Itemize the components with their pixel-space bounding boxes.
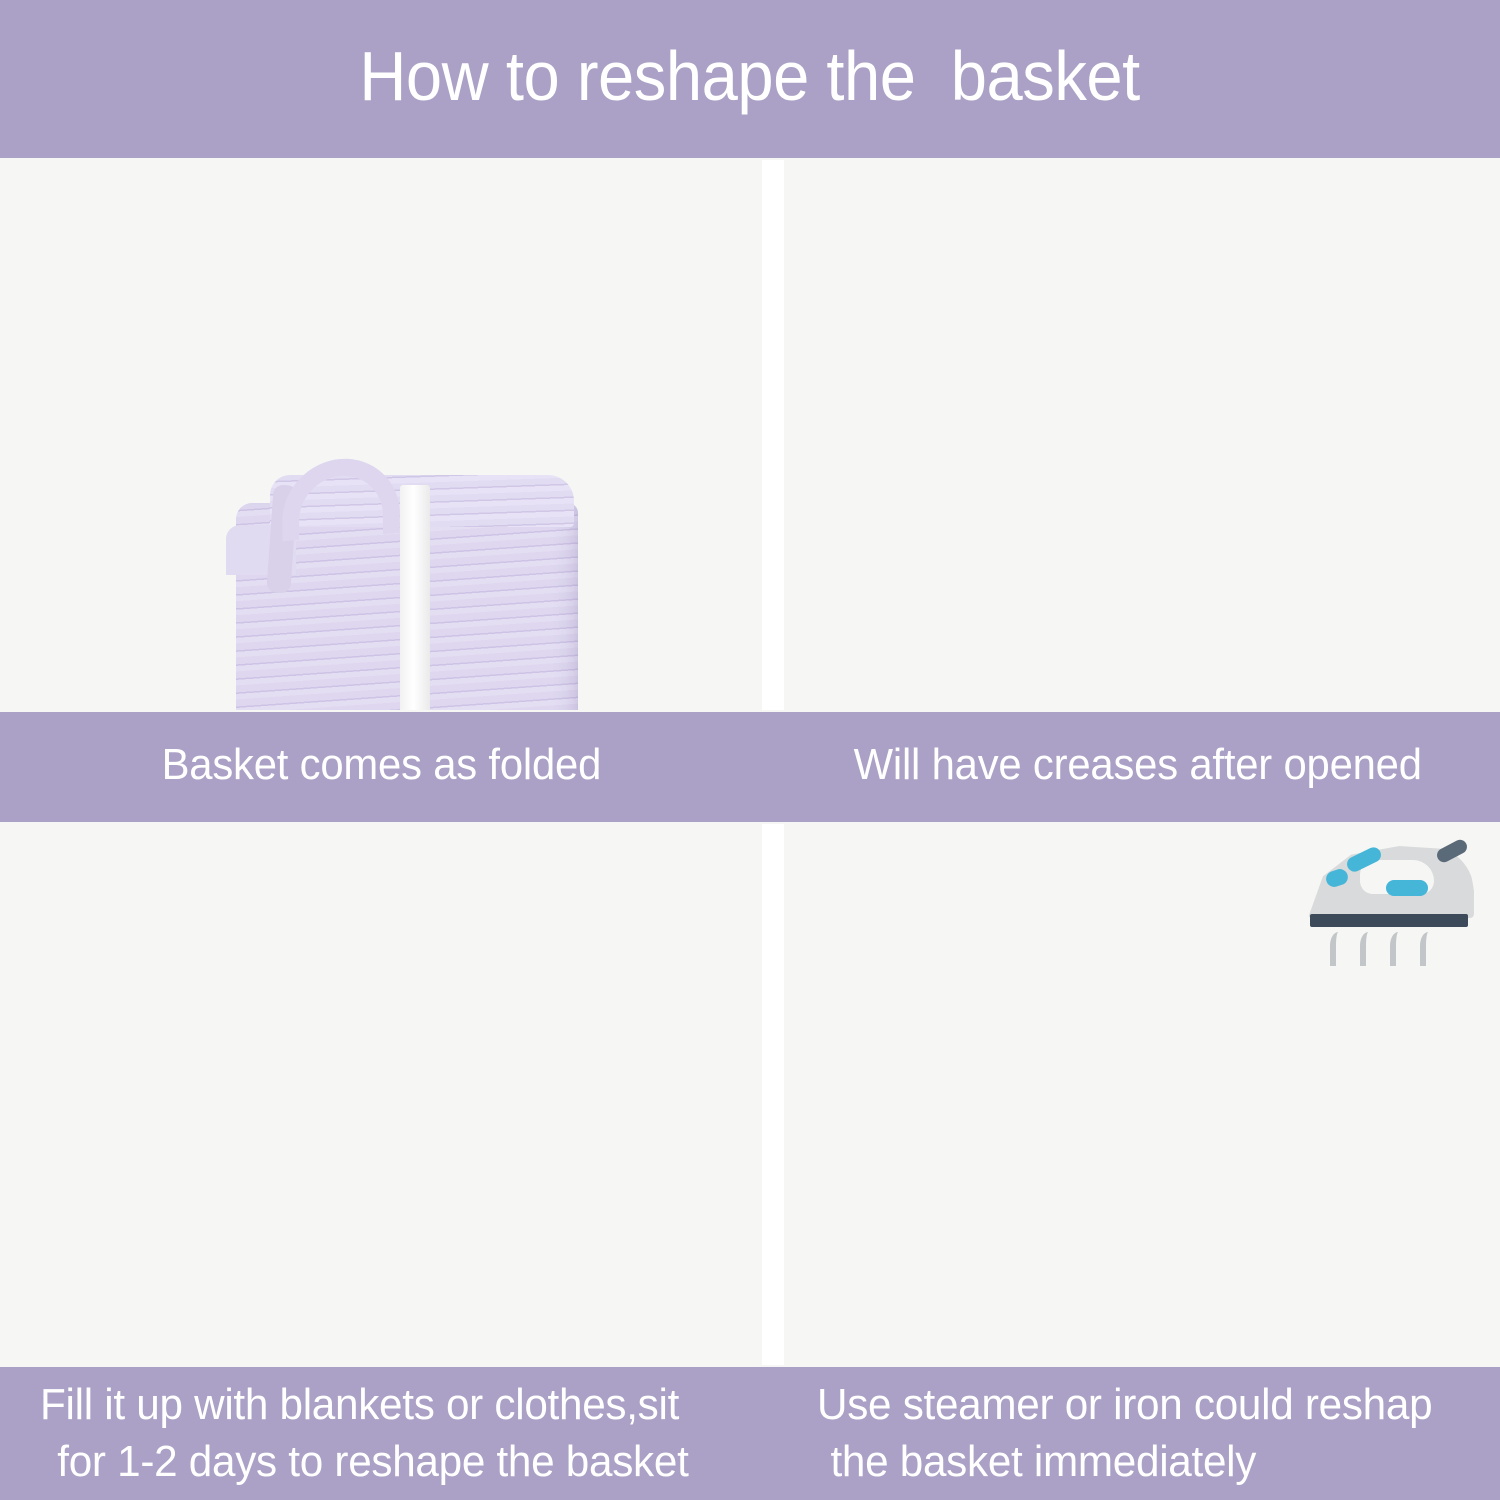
steam-wisp [1420, 932, 1434, 966]
panel-folded [0, 160, 762, 710]
steam-iron-icon [1302, 838, 1480, 978]
folded-basket-bundle-image [222, 455, 592, 710]
folded-basket-handle-loop [282, 455, 400, 541]
page-title: How to reshape the basket [360, 41, 1140, 117]
panel-divider-vertical-bottom [762, 824, 784, 1365]
panel-divider-vertical-top [762, 160, 784, 710]
packaging-strap [400, 485, 430, 710]
header-band: How to reshape the basket [0, 0, 1500, 158]
panel-filled [0, 824, 762, 1365]
caption-reshaped-line1: Use steamer or iron could reshap [817, 1377, 1432, 1433]
infographic-page: How to reshape the basket [0, 0, 1500, 1500]
caption-folded-text: Basket comes as folded [161, 743, 601, 791]
caption-band-creased: Will have creases after opened [762, 712, 1500, 822]
steam-wisp [1360, 932, 1374, 966]
steam-wisp [1330, 932, 1344, 966]
caption-band-reshaped: Use steamer or iron could reshap the bas… [762, 1367, 1500, 1500]
caption-band-folded: Basket comes as folded [0, 712, 762, 822]
caption-reshaped-line2: the basket immediately [817, 1434, 1256, 1490]
iron-knob [1386, 880, 1428, 896]
panel-creased [784, 160, 1500, 710]
caption-filled-line2: for 1-2 days to reshape the basket [40, 1434, 689, 1490]
caption-filled-line1: Fill it up with blankets or clothes,sit [40, 1377, 679, 1433]
caption-band-filled: Fill it up with blankets or clothes,sit … [0, 1367, 762, 1500]
iron-soleplate [1310, 914, 1468, 927]
caption-creased-text: Will have creases after opened [840, 743, 1422, 791]
steam-wisp [1390, 932, 1404, 966]
